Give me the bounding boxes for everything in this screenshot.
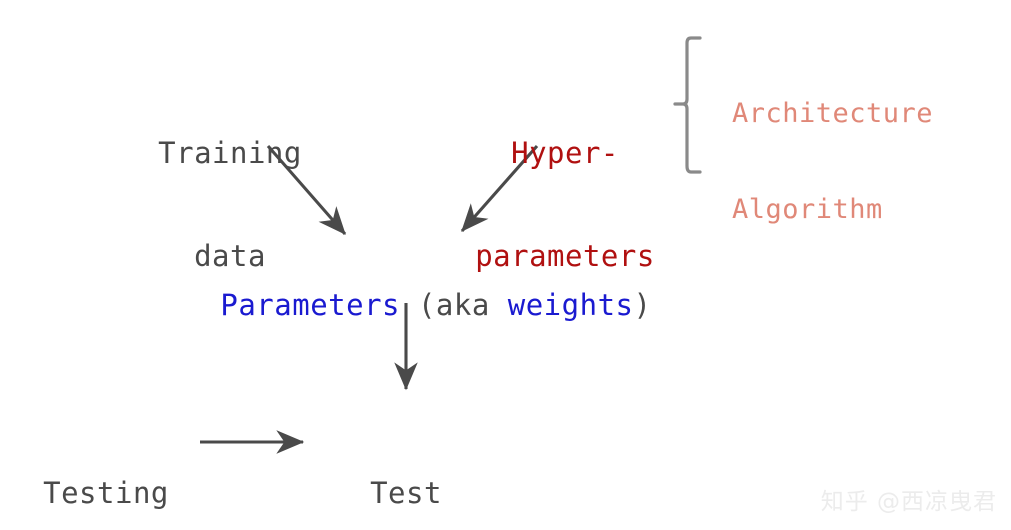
diagram-canvas: Training data Hyper- parameters Architec… — [0, 0, 1011, 530]
node-hyperparameters-line1: Hyper- — [400, 136, 730, 170]
node-training-data-line1: Training — [0, 136, 460, 170]
parameters-close-paren: ) — [633, 288, 651, 322]
node-architecture-label: Architecture — [732, 98, 1000, 130]
node-parameters-line: Parameters (aka weights) — [0, 254, 800, 357]
node-test-accuracy: Test accuracy — [300, 408, 512, 530]
watermark: 知乎 @西凉曳君 — [821, 482, 997, 516]
node-testing-data: Testing data — [0, 408, 212, 530]
node-testing-data-line1: Testing — [0, 476, 212, 510]
node-weights-label: weights — [508, 288, 634, 322]
parameters-open-paren: (aka — [400, 288, 508, 322]
node-test-accuracy-line1: Test — [300, 476, 512, 510]
node-parameters-label: Parameters — [220, 288, 400, 322]
node-algorithm-label: Algorithm — [732, 194, 1000, 226]
